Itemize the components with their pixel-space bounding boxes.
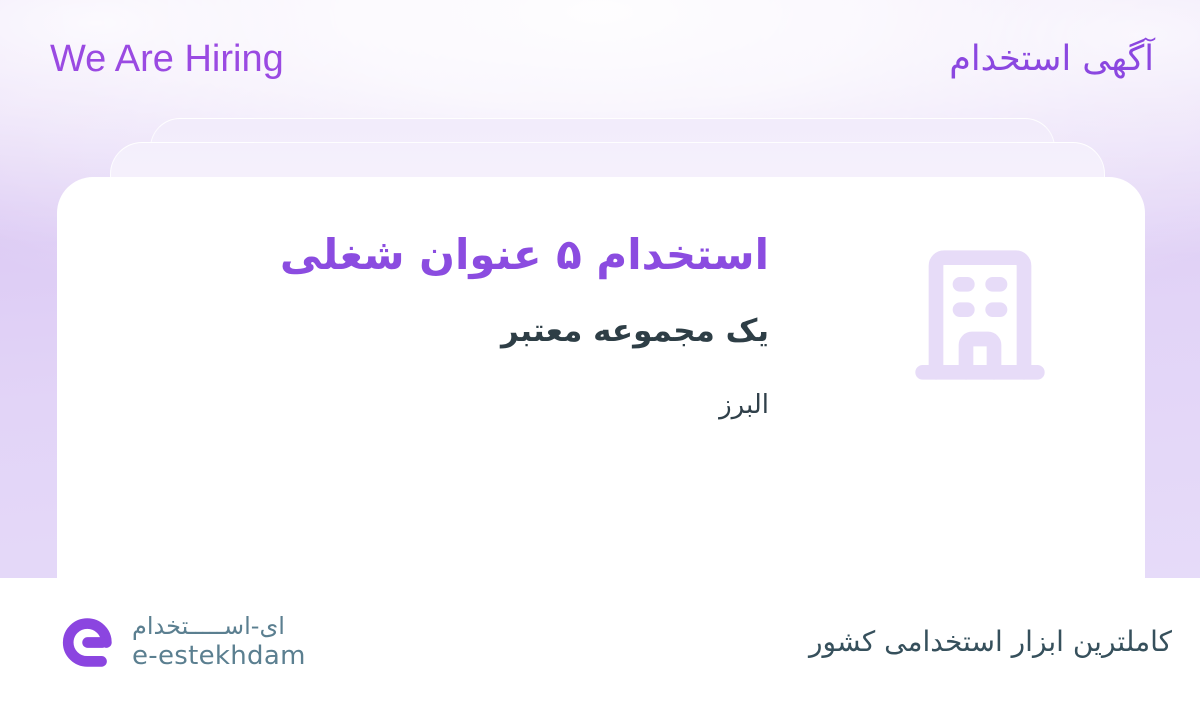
job-card[interactable]: استخدام ۵ عنوان شغلی یک مجموعه معتبر الب… (57, 177, 1145, 578)
brand-wordmark: ای-اســـــتخدام e-estekhdam (132, 614, 306, 669)
job-ad-poster: آگهی استخدام We Are Hiring استخدام ۵ عنو… (0, 0, 1200, 705)
poster-stage: آگهی استخدام We Are Hiring استخدام ۵ عنو… (0, 0, 1200, 578)
brand-name-fa: ای-اســـــتخدام (132, 614, 285, 638)
e-logo-icon (56, 611, 118, 673)
job-title: استخدام ۵ عنوان شغلی (57, 227, 769, 284)
brand-lockup[interactable]: ای-اســـــتخدام e-estekhdam (56, 611, 306, 673)
building-icon (900, 235, 1060, 395)
poster-header: آگهی استخدام We Are Hiring (0, 0, 1200, 118)
company-logo-slot (815, 177, 1145, 395)
job-card-inner: استخدام ۵ عنوان شغلی یک مجموعه معتبر الب… (57, 177, 1145, 578)
job-card-info: استخدام ۵ عنوان شغلی یک مجموعه معتبر الب… (57, 177, 815, 423)
header-title-fa: آگهی استخدام (949, 42, 1154, 77)
job-location: البرز (57, 387, 769, 423)
header-title-en: We Are Hiring (50, 40, 284, 78)
poster-footer: ای-اســـــتخدام e-estekhdam کاملترین ابز… (0, 578, 1200, 705)
company-name: یک مجموعه معتبر (57, 310, 769, 353)
brand-name-en: e-estekhdam (132, 643, 306, 669)
footer-tagline: کاملترین ابزار استخدامی کشور (809, 628, 1172, 656)
